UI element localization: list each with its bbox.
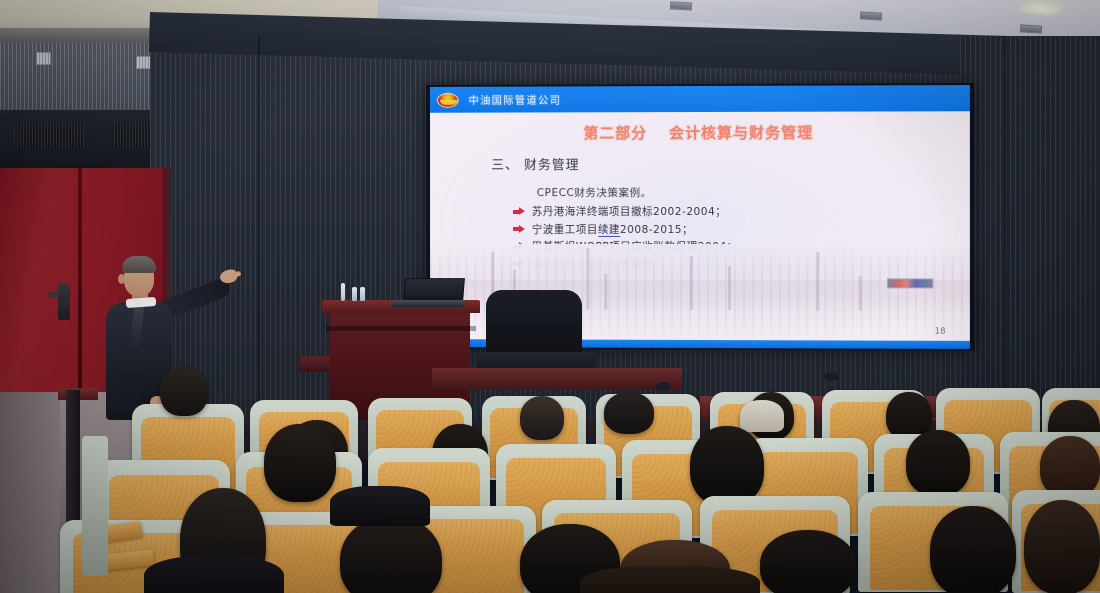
slide-lead-text: CPECC财务决策案例。 [537, 185, 970, 200]
bullet-text-post: 2008-2015； [620, 223, 693, 235]
wall-vent-icon [36, 52, 51, 65]
ceiling-vent-icon [670, 1, 692, 10]
audience-head [604, 392, 654, 434]
list-item: 苏丹港海洋终端项目撤标2002-2004； [513, 204, 970, 219]
photo-tower [859, 276, 862, 310]
slide-page-number: 18 [935, 327, 946, 337]
audience-head [160, 366, 208, 416]
audience-head [1024, 500, 1100, 593]
aisle-floor-shadow [0, 392, 60, 593]
presenter-hair [122, 256, 156, 273]
laptop-screen [403, 278, 465, 302]
door-handle-icon[interactable] [58, 284, 70, 320]
list-item: 宁波重工项目续建2008-2015； [513, 221, 970, 236]
audience-head [1040, 436, 1100, 498]
audience-hood [740, 400, 784, 432]
ceiling-light [1018, 0, 1065, 17]
cnpc-logo-icon [437, 92, 459, 107]
slide-section-heading: 三、 财务管理 [491, 154, 970, 174]
photo-tower [816, 252, 819, 310]
wall-louver [14, 122, 84, 148]
ceiling-vent-icon [860, 11, 882, 20]
water-bottle [341, 283, 345, 301]
photo-tower [728, 266, 731, 310]
stage-chair-back [486, 290, 582, 358]
seat-side-panel [82, 436, 108, 576]
photo-tower [586, 248, 589, 310]
audience-head [930, 506, 1016, 593]
wall-seam [1004, 36, 1006, 436]
audience-shoulders [580, 566, 760, 593]
wall-vent-icon [136, 56, 151, 69]
red-arrow-icon [513, 207, 525, 216]
laptop-keyboard [391, 300, 465, 307]
photo-badge-icon [887, 278, 934, 288]
bullet-text-pre: 宁波重工项目 [532, 223, 598, 235]
photo-tower [690, 256, 693, 310]
door-seam [78, 168, 82, 400]
audience-head [690, 426, 764, 506]
bullet-label: 宁波重工项目续建2008-2015； [532, 221, 693, 236]
water-bottle [352, 287, 357, 301]
slide-title-subject: 会计核算与财务管理 [669, 124, 813, 142]
water-bottle [360, 287, 365, 301]
slide-title-part: 第二部分 [583, 124, 647, 142]
red-arrow-icon [513, 224, 525, 233]
microphone-head [656, 382, 671, 391]
audience-head [340, 516, 442, 593]
podium-edge [326, 326, 476, 331]
audience-head [906, 430, 970, 496]
audience-head [520, 396, 564, 440]
slide-header-bar: 中油国际管道公司 [430, 85, 970, 113]
photo-tower [604, 274, 607, 310]
microphone-head [824, 372, 839, 381]
audience-shoulders [144, 556, 284, 593]
presenter-ear [118, 274, 125, 284]
slide-title: 第二部分会计核算与财务管理 [430, 121, 970, 143]
bullet-label: 苏丹港海洋终端项目撤标2002-2004； [532, 204, 727, 219]
audience-head [760, 530, 856, 593]
scene-photo: 中油国际管道公司 第二部分会计核算与财务管理 三、 财务管理 CPECC财务决策… [0, 0, 1100, 593]
audience-shoulders [330, 486, 430, 526]
bullet-text-underlined: 续建 [598, 223, 620, 236]
wall-seam [258, 36, 260, 436]
stage-table [432, 368, 682, 390]
slide-company-name: 中油国际管道公司 [469, 92, 562, 107]
ceiling-vent-icon [1020, 24, 1042, 33]
audience-head [264, 424, 336, 502]
